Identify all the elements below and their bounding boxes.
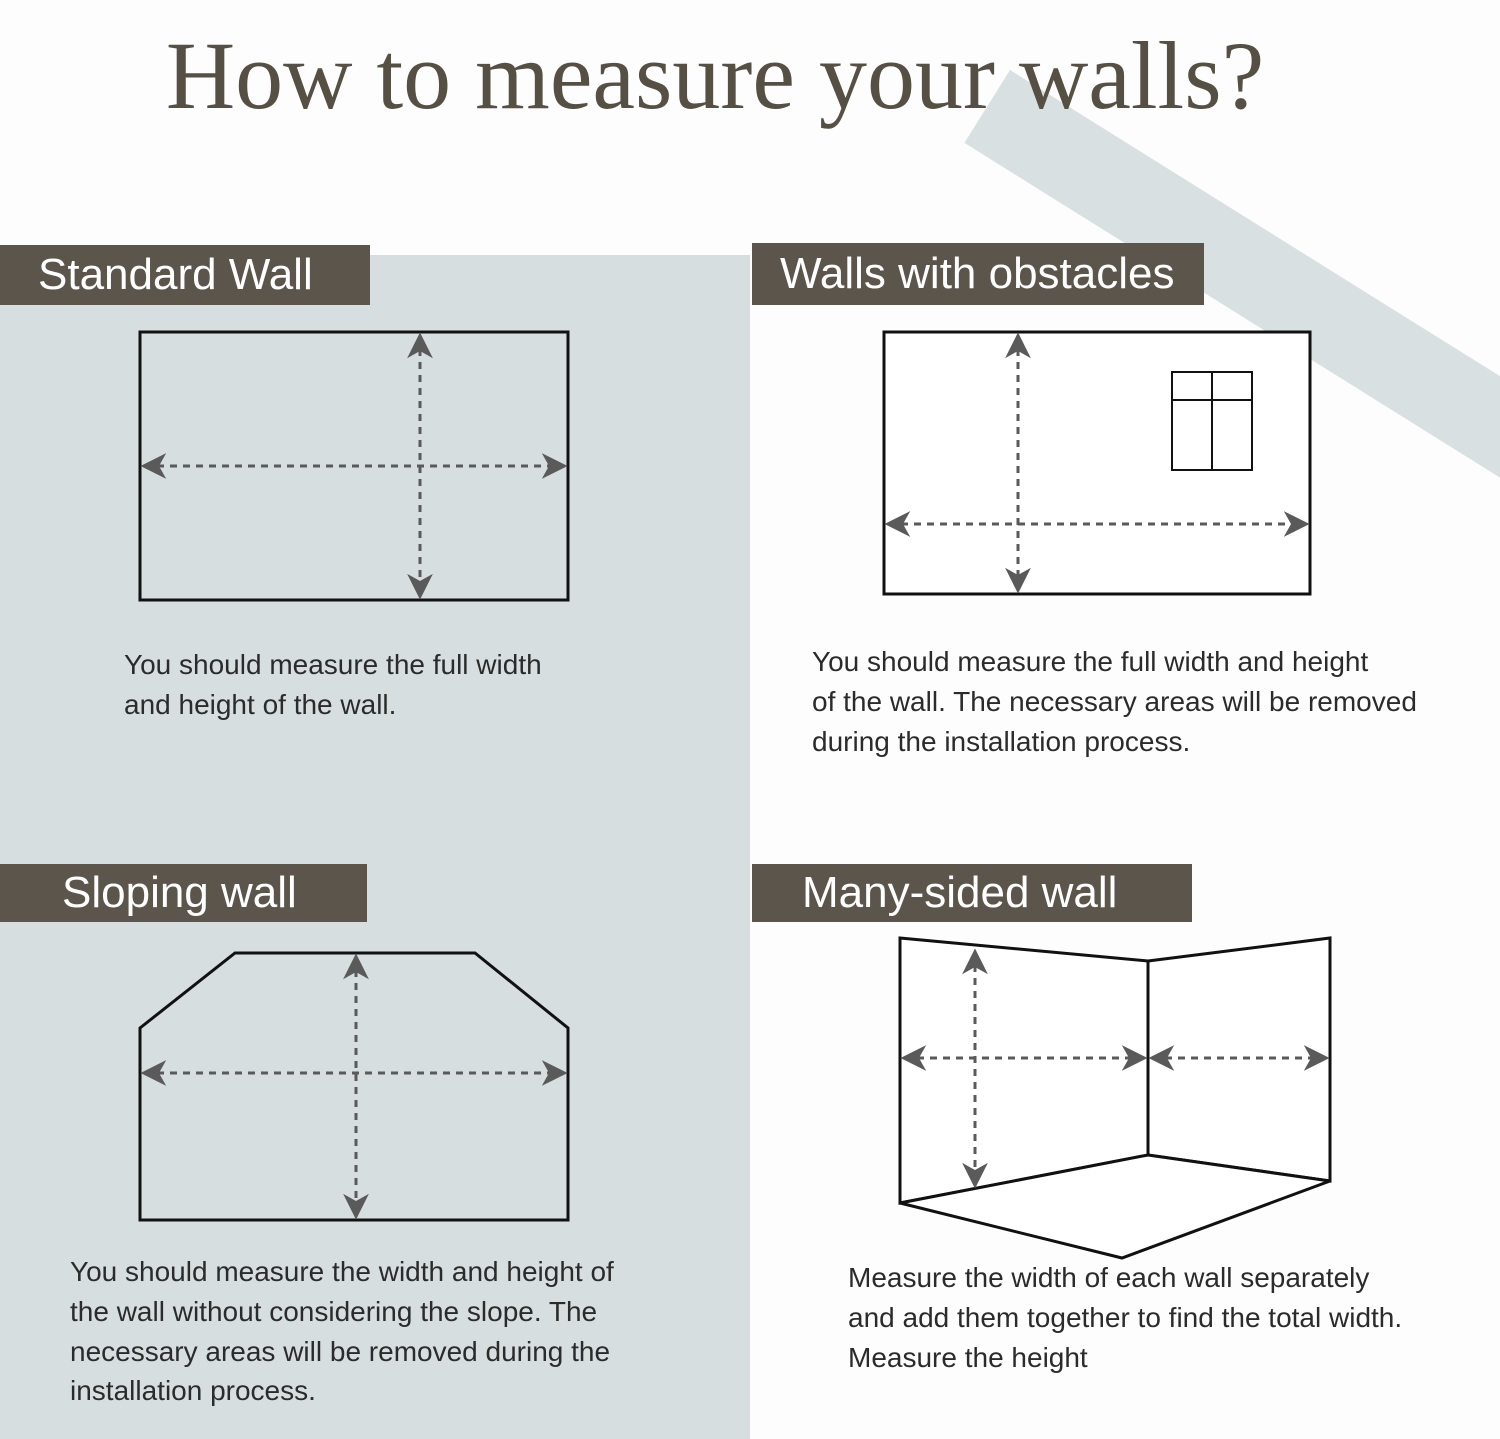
caption-many-sided-wall: Measure the width of each wall separatel…	[848, 1258, 1468, 1377]
diagram-standard-wall	[120, 318, 600, 618]
wall-outline	[140, 953, 568, 1220]
section-header-sloping-wall: Sloping wall	[0, 864, 367, 922]
section-header-standard-wall: Standard Wall	[0, 245, 370, 305]
section-header-walls-with-obstacles: Walls with obstacles	[752, 243, 1204, 305]
right-wall-face	[1148, 938, 1330, 1181]
caption-standard-wall: You should measure the full width and he…	[124, 645, 654, 725]
section-header-label: Standard Wall	[38, 253, 313, 297]
section-header-label: Many-sided wall	[802, 871, 1117, 915]
section-header-label: Sloping wall	[62, 871, 297, 915]
diagram-walls-with-obstacles	[860, 318, 1340, 618]
diagram-sloping-wall	[110, 930, 610, 1250]
caption-walls-with-obstacles: You should measure the full width and he…	[812, 642, 1472, 761]
section-header-many-sided-wall: Many-sided wall	[752, 864, 1192, 922]
caption-sloping-wall: You should measure the width and height …	[70, 1252, 690, 1411]
section-header-label: Walls with obstacles	[780, 252, 1175, 296]
infographic-page: How to measure your walls? Standard Wall…	[0, 0, 1500, 1439]
page-title: How to measure your walls?	[0, 26, 1430, 127]
diagram-many-sided-wall	[870, 920, 1360, 1270]
